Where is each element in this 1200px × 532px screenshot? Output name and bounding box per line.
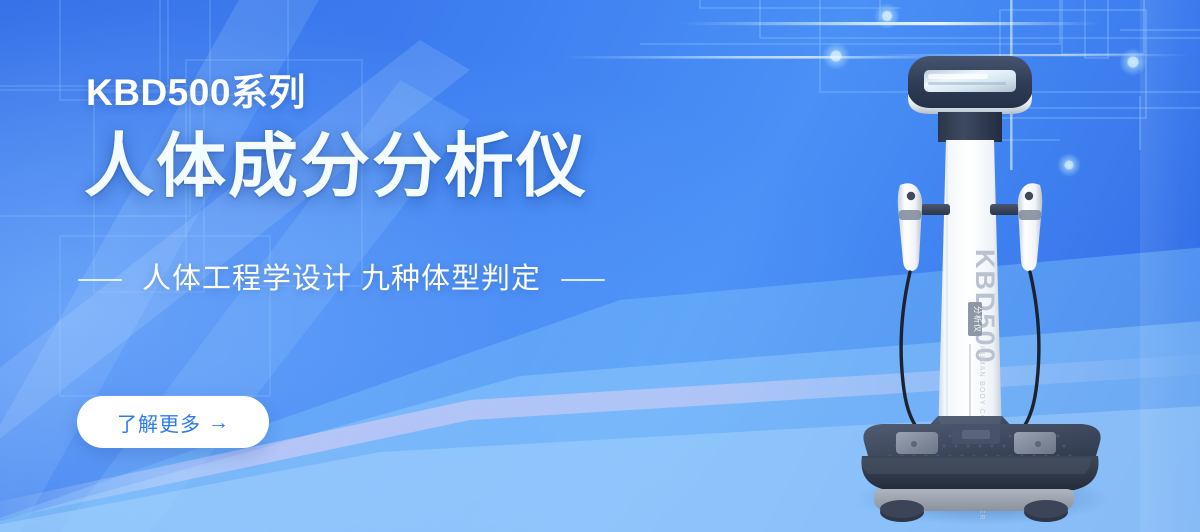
learn-more-label: 了解更多	[117, 408, 201, 437]
subtitle-rule-left	[78, 279, 122, 281]
feature-subtitle: 人体工程学设计 九种体型判定	[78, 265, 605, 294]
arrow-right-icon: →	[208, 412, 229, 433]
subtitle-rule-right	[561, 279, 605, 281]
hero-copy: KBD500系列 人体成分分析仪 人体工程学设计 九种体型判定 了解更多 →	[0, 0, 760, 532]
product-column-badge: 分析仪	[973, 306, 983, 333]
product-image: KBD500 分析仪 HUMAN BODY COMPOSITION ANALYZ…	[842, 44, 1122, 532]
cable-left	[901, 272, 922, 434]
subtitle-text: 人体工程学设计 九种体型判定	[142, 265, 541, 294]
product-platform	[862, 424, 1101, 522]
product-display	[908, 56, 1032, 142]
product-series-eyebrow: KBD500系列	[86, 74, 306, 111]
learn-more-button[interactable]: 了解更多 →	[77, 396, 269, 448]
hero-banner: KBD500 分析仪 HUMAN BODY COMPOSITION ANALYZ…	[0, 0, 1200, 532]
page-title: 人体成分分析仪	[84, 131, 588, 201]
cable-right	[1018, 272, 1039, 434]
